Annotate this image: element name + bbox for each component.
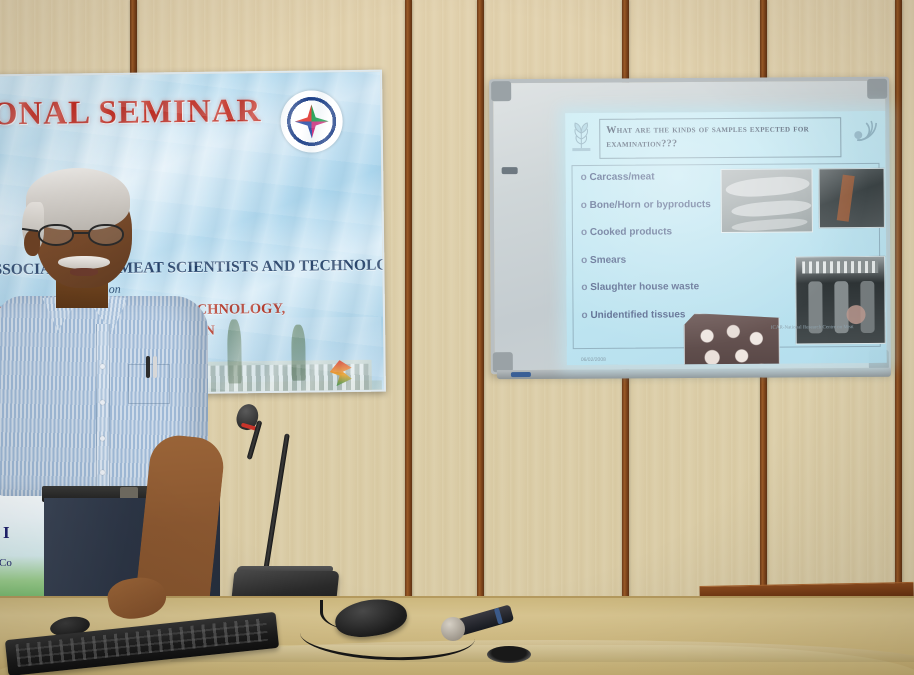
shirt-button [100, 364, 105, 369]
slide-title: What are the kinds of samples expected f… [606, 122, 836, 152]
list-item: Smears [581, 253, 741, 265]
wall-strip [895, 0, 902, 614]
list-item: Bone/Horn or byproducts [581, 198, 741, 210]
presenter [0, 168, 230, 614]
slide-title-box: What are the kinds of samples expected f… [599, 117, 841, 159]
whiteboard-corner [867, 79, 887, 99]
desk-cable-grommet [487, 646, 531, 663]
pen-icon [153, 356, 157, 378]
glasses-bridge [74, 232, 90, 234]
whiteboard-corner [491, 81, 511, 101]
banner-tree-icon [291, 325, 306, 381]
shirt-button [100, 400, 105, 405]
slide-decorative-dot [846, 305, 865, 324]
slide-photo-meat-cuts-tray [684, 313, 781, 365]
wall-strip [477, 0, 484, 614]
presentation-scene: ATIONAL SEMINAR and e ASSOCIATION OF MEA… [0, 0, 914, 675]
shirt-button [100, 436, 105, 441]
whiteboard-magnet [502, 167, 518, 174]
presenter-shirt-placket [96, 324, 110, 494]
slide-photo-dark-workspace [819, 168, 885, 228]
banner-title: ATIONAL SEMINAR [0, 93, 293, 134]
glasses-icon [36, 224, 132, 246]
glasses-lens-left [38, 224, 74, 246]
list-item: Carcass/meat [581, 171, 741, 183]
projected-slide: What are the kinds of samples expected f… [565, 111, 887, 365]
nrcm-arcs-icon [851, 116, 881, 144]
presenter-mouth [70, 268, 98, 276]
list-item: Slaughter house waste [581, 281, 741, 293]
pen-icon [146, 356, 150, 378]
whiteboard-marker [511, 372, 531, 377]
shirt-button [100, 470, 105, 475]
wall-strip [405, 0, 412, 614]
list-item: Cooked products [581, 226, 741, 238]
slide-body: Carcass/meat Bone/Horn or byproducts Coo… [571, 163, 880, 349]
slide-photo-horns-and-bones [721, 168, 813, 233]
slide-photo-hanging-carcasses [795, 256, 886, 345]
slide-footer-org: ICAR-National Research Centre on Meat [771, 325, 854, 331]
slide-footer-date: 06/02/2008 [581, 357, 606, 363]
glasses-lens-right [88, 224, 124, 246]
banner-emblem-icon [280, 90, 343, 153]
icar-wheat-sheaf-icon [568, 119, 594, 153]
handheld-microphone-head [441, 617, 465, 641]
slide-bullet-list: Carcass/meat Bone/Horn or byproducts Coo… [581, 171, 742, 337]
